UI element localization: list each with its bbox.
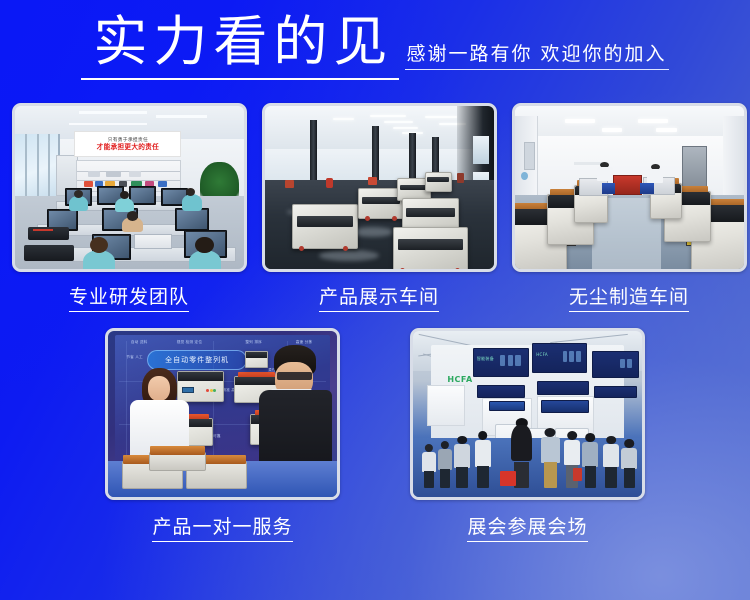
- booth-brand: HCFA: [447, 375, 472, 384]
- gallery-row-1: 只有勇于承担责任 才能承担更大的责任: [0, 103, 750, 312]
- page-subtitle: 感谢一路有你 欢迎你的加入: [405, 39, 669, 70]
- photo-one-to-one-service: 自动 送料 视觉 检测 定位 整列 排序 高速 分拣 节省 人工 柔性 供料 精…: [108, 331, 337, 497]
- photo-frame[interactable]: 自动 送料 视觉 检测 定位 整列 排序 高速 分拣 节省 人工 柔性 供料 精…: [105, 328, 340, 500]
- photo-exhibition: 智能装备 HCFA HCFA: [413, 331, 642, 497]
- gallery-item-exhibition[interactable]: 智能装备 HCFA HCFA: [410, 328, 645, 542]
- page-title: 实力看的见: [81, 12, 399, 80]
- demo-board-title: 全自动零件整列机: [147, 350, 247, 370]
- poster-root: 实力看的见 感谢一路有你 欢迎你的加入: [0, 0, 750, 600]
- photo-dustfree-workshop: [515, 106, 744, 269]
- gallery-item-one-to-one-service[interactable]: 自动 送料 视觉 检测 定位 整列 排序 高速 分拣 节省 人工 柔性 供料 精…: [105, 328, 340, 542]
- photo-caption: 专业研发团队: [69, 282, 189, 312]
- gallery-item-product-showroom[interactable]: 产品展示车间: [262, 103, 497, 312]
- gallery-item-dustfree-workshop[interactable]: 无尘制造车间: [512, 103, 747, 312]
- photo-frame[interactable]: [262, 103, 497, 272]
- photo-caption: 展会参展会场: [467, 512, 587, 542]
- office-wall-banner: 只有勇于承担责任 才能承担更大的责任: [74, 131, 181, 157]
- photo-frame[interactable]: [512, 103, 747, 272]
- photo-product-showroom: [265, 106, 494, 269]
- gallery-item-rd-team[interactable]: 只有勇于承担责任 才能承担更大的责任: [12, 103, 247, 312]
- photo-caption: 产品一对一服务: [152, 512, 292, 542]
- photo-rd-team: 只有勇于承担责任 才能承担更大的责任: [15, 106, 244, 269]
- banner-line-1: 只有勇于承担责任: [108, 137, 148, 143]
- photo-caption: 无尘制造车间: [569, 282, 689, 312]
- poster-header: 实力看的见 感谢一路有你 欢迎你的加入: [0, 0, 750, 80]
- gallery-row-2: 自动 送料 视觉 检测 定位 整列 排序 高速 分拣 节省 人工 柔性 供料 精…: [0, 328, 750, 542]
- photo-gallery: 只有勇于承担责任 才能承担更大的责任: [0, 103, 750, 542]
- photo-frame[interactable]: 只有勇于承担责任 才能承担更大的责任: [12, 103, 247, 272]
- photo-caption: 产品展示车间: [319, 282, 439, 312]
- photo-frame[interactable]: 智能装备 HCFA HCFA: [410, 328, 645, 500]
- banner-line-2: 才能承担更大的责任: [96, 143, 158, 151]
